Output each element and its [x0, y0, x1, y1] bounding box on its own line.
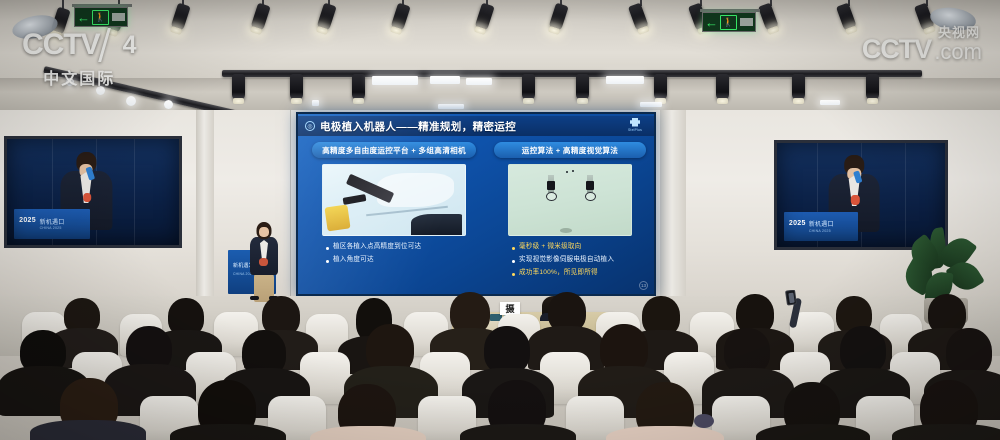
- podium-text: 新机遇口: [40, 217, 65, 226]
- bullet-dot-icon: [326, 247, 329, 250]
- wall-column: [660, 110, 686, 310]
- stage-spotlight: [758, 3, 779, 32]
- side-led-screen-left: 2025 新机遇口 CHINA 2025: [4, 136, 182, 248]
- bullet-text: 植区各植入点高精度到位可达: [333, 243, 421, 251]
- ceiling-panel-light: [312, 100, 319, 106]
- slide-body: 高精度多自由度运控平台 + 多组高清相机 植区各植入点高精度到位可达: [298, 138, 654, 296]
- audience-shoulders: [756, 424, 870, 440]
- bullet-item: 实现视觉影像伺服电极自动植入: [512, 256, 646, 264]
- cctv-channel-number: 4: [123, 33, 137, 58]
- stage-spotlight: [316, 3, 336, 32]
- lighting-truss: [222, 70, 922, 77]
- cctv-slash-icon: [101, 28, 121, 62]
- ceiling-panel-light: [438, 104, 464, 109]
- hair-accessory: [694, 414, 714, 428]
- truss-spotlight: [866, 74, 879, 100]
- bullet-dot-icon: [512, 260, 515, 263]
- bullet-text: 植入角度可达: [333, 256, 374, 264]
- panel-image-right: [508, 164, 632, 236]
- cctv-wordmark: CCTV: [22, 30, 100, 60]
- panel-bullets-right: 毫秒级 + 微米级取向 实现视觉影像伺服电极自动植入 成功率100%，所见即所得: [494, 243, 646, 277]
- panel-header-left: 高精度多自由度运控平台 + 多组高清相机: [312, 142, 476, 158]
- exit-sign-panel: [740, 18, 753, 26]
- ceiling-panel-light: [430, 76, 460, 84]
- watermark-domain: .com: [934, 41, 982, 63]
- stage-spotlight: [170, 3, 190, 32]
- panel-bullets-left: 植区各植入点高精度到位可达 植入角度可达: [312, 243, 476, 264]
- cctv-channel-name: 中文国际: [43, 65, 115, 89]
- bullet-text: 实现视觉影像伺服电极自动植入: [519, 256, 614, 264]
- ceiling-panel-light: [372, 76, 418, 85]
- audience-shoulders: [606, 426, 724, 440]
- bullet-dot-icon: [512, 247, 515, 250]
- ceiling-panel-light: [466, 78, 492, 85]
- wall-column: [196, 110, 214, 310]
- running-man-icon: 🚶: [92, 10, 109, 25]
- bullet-item: 植区各植入点高精度到位可达: [326, 243, 476, 251]
- stage-spotlight: [548, 3, 568, 32]
- audience-head: [484, 326, 530, 374]
- screen-podium: 2025 新机遇口 CHINA 2025: [784, 212, 858, 241]
- bullet-item: 成功率100%，所见即所得: [512, 269, 646, 277]
- stage-spotlight: [628, 3, 649, 32]
- ceiling-panel-light: [820, 100, 840, 105]
- slide-panel-left: 高精度多自由度运控平台 + 多组高清相机 植区各植入点高精度到位可达: [312, 142, 476, 292]
- panel-header-right-label: 运控算法 + 高精度视觉算法: [522, 145, 618, 156]
- target-icon: ◎: [305, 121, 315, 131]
- exit-sign-panel: [112, 13, 125, 21]
- audience-shoulders: [310, 426, 426, 440]
- slide-page-number: 13: [639, 281, 648, 290]
- podium-subtext: CHINA 2025: [809, 229, 831, 233]
- audience-head: [840, 326, 886, 374]
- bullet-text: 成功率100%，所见即所得: [519, 269, 598, 277]
- audience-shoulders: [460, 424, 576, 440]
- bullet-text: 毫秒级 + 微米级取向: [519, 243, 581, 251]
- truss-spotlight: [792, 74, 805, 100]
- audience-shoulders: [30, 420, 146, 440]
- panel-image-left: [322, 164, 466, 236]
- panel-header-right: 运控算法 + 高精度视觉算法: [494, 142, 646, 158]
- exit-arrow-icon: ←: [77, 11, 90, 24]
- audience-seating: [0, 290, 1000, 440]
- podium-year: 2025: [789, 220, 806, 227]
- bullet-dot-icon: [326, 260, 329, 263]
- screen-content-left: 2025 新机遇口 CHINA 2025: [7, 139, 179, 245]
- audience-head: [946, 328, 992, 376]
- bullet-item: 植入角度可达: [326, 256, 476, 264]
- watermark-brand: CCTV: [862, 36, 932, 63]
- ceiling-panel-light: [640, 102, 662, 107]
- ceiling-panel-light: [126, 96, 136, 106]
- bullet-item: 毫秒级 + 微米级取向: [512, 243, 646, 251]
- stage-spotlight: [474, 3, 494, 32]
- ceiling: [0, 0, 1000, 118]
- podium-year: 2025: [19, 217, 36, 224]
- robot-icon: [630, 118, 640, 127]
- cctv-web-watermark: CCTV .com 央视网: [862, 36, 982, 63]
- stage-speaker: [247, 222, 281, 300]
- slide-brand-logo: StelPlus: [622, 116, 648, 133]
- exit-sign-left: ← 🚶: [74, 7, 128, 27]
- exit-sign-right: ← 🚶: [702, 12, 756, 32]
- audience-shoulders: [170, 424, 286, 440]
- ceiling-panel-light: [164, 100, 173, 109]
- truss-spotlight: [716, 74, 729, 100]
- truss-spotlight: [232, 74, 245, 100]
- ceiling-panel-light: [606, 76, 644, 84]
- broadcast-frame: ← 🚶 ← 🚶 2025 新机遇口: [0, 0, 1000, 440]
- running-man-icon: 🚶: [720, 15, 737, 30]
- stage-spotlight: [250, 3, 270, 32]
- main-presentation-screen: ◎ 电极植入机器人——精准规划，精密运控 StelPlus 高精度多自由度运控平…: [296, 112, 656, 296]
- smartphone-icon: [785, 290, 797, 306]
- slide-title: 电极植入机器人——精准规划，精密运控: [320, 119, 516, 134]
- truss-spotlight: [290, 74, 303, 100]
- truss-spotlight: [576, 74, 589, 100]
- stage-spotlight: [390, 3, 410, 32]
- bullet-dot-icon: [512, 273, 515, 276]
- truss-spotlight: [654, 74, 667, 100]
- truss-spotlight: [352, 74, 365, 100]
- podium-subtext: CHINA 2025: [40, 226, 62, 230]
- stage-spotlight: [836, 3, 857, 32]
- slide-title-bar: ◎ 电极植入机器人——精准规划，精密运控: [298, 116, 654, 136]
- slide-panel-right: 运控算法 + 高精度视觉算法 毫秒级 + 微米级取: [494, 142, 646, 292]
- truss-spotlight: [522, 74, 535, 100]
- screen-podium: 2025 新机遇口 CHINA 2025: [14, 209, 90, 239]
- cctv-channel-logo: CCTV 4 中文国际: [22, 28, 137, 89]
- watermark-cn-name: 央视网: [938, 22, 980, 41]
- podium-text: 新机遇口: [809, 219, 834, 228]
- audience-shoulders: [892, 424, 1000, 440]
- exit-arrow-icon: ←: [705, 16, 718, 29]
- panel-header-left-label: 高精度多自由度运控平台 + 多组高清相机: [322, 145, 466, 156]
- brand-text: StelPlus: [628, 128, 642, 132]
